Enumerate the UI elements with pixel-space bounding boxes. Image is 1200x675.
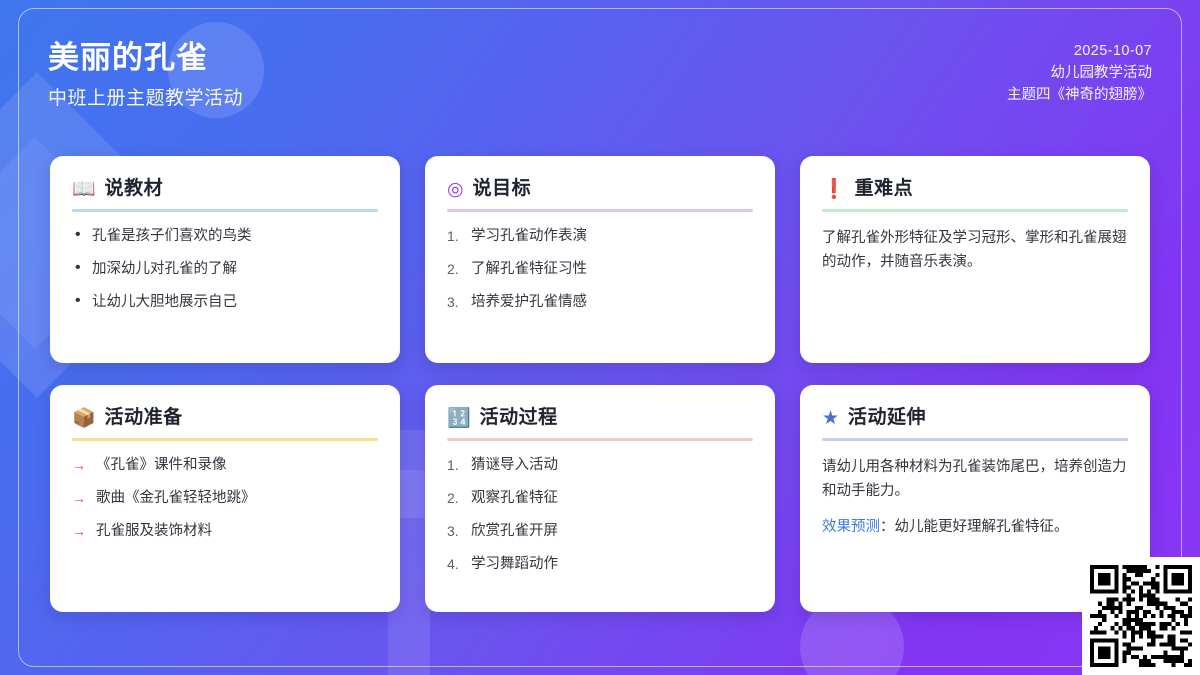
star-icon: ★ xyxy=(822,409,839,428)
list-item: 让幼儿大胆地展示自己 xyxy=(72,292,378,312)
card-grid: 📖说教材孔雀是孩子们喜欢的鸟类加深幼儿对孔雀的了解让幼儿大胆地展示自己◎说目标学… xyxy=(50,156,1150,612)
card-title: 活动延伸 xyxy=(848,405,926,431)
numbered-list-icon: 🔢 xyxy=(447,409,471,428)
list-item: 观察孔雀特征 xyxy=(447,488,753,508)
list-item: 欣赏孔雀开屏 xyxy=(447,521,753,541)
page-subtitle: 中班上册主题教学活动 xyxy=(48,86,243,112)
page-title: 美丽的孔雀 xyxy=(48,38,243,78)
card-rule xyxy=(72,209,378,212)
card-list: 孔雀是孩子们喜欢的鸟类加深幼儿对孔雀的了解让幼儿大胆地展示自己 xyxy=(72,226,378,312)
card-rule xyxy=(822,209,1128,212)
qr-code-image xyxy=(1090,565,1192,667)
card-rule xyxy=(72,438,378,441)
card-paragraph: 了解孔雀外形特征及学习冠形、掌形和孔雀展翅的动作，并随音乐表演。 xyxy=(822,226,1128,274)
card-header: 🔢活动过程 xyxy=(447,405,753,431)
card-objectives: ◎说目标学习孔雀动作表演了解孔雀特征习性培养爱护孔雀情感 xyxy=(425,156,775,363)
qr-code[interactable] xyxy=(1082,557,1200,675)
card-header: ❗重难点 xyxy=(822,176,1128,202)
list-item: 了解孔雀特征习性 xyxy=(447,259,753,279)
card-note: 效果预测：幼儿能更好理解孔雀特征。 xyxy=(822,515,1128,539)
header-date: 2025-10-07 xyxy=(1007,40,1152,62)
card-rule xyxy=(822,438,1128,441)
header-theme-unit: 主题四《神奇的翅膀》 xyxy=(1007,84,1152,106)
card-rule xyxy=(447,209,753,212)
card-header: ★活动延伸 xyxy=(822,405,1128,431)
card-list: 《孔雀》课件和录像歌曲《金孔雀轻轻地跳》孔雀服及装饰材料 xyxy=(72,455,378,541)
list-item: 歌曲《金孔雀轻轻地跳》 xyxy=(72,488,378,508)
card-title: 重难点 xyxy=(855,176,914,202)
list-item: 加深幼儿对孔雀的了解 xyxy=(72,259,378,279)
card-teaching-material: 📖说教材孔雀是孩子们喜欢的鸟类加深幼儿对孔雀的了解让幼儿大胆地展示自己 xyxy=(50,156,400,363)
list-item: 培养爱护孔雀情感 xyxy=(447,292,753,312)
package-box-icon: 📦 xyxy=(72,409,96,428)
list-item: 学习舞蹈动作 xyxy=(447,554,753,574)
list-item: 《孔雀》课件和录像 xyxy=(72,455,378,475)
card-process: 🔢活动过程猜谜导入活动观察孔雀特征欣赏孔雀开屏学习舞蹈动作 xyxy=(425,385,775,612)
list-item: 猜谜导入活动 xyxy=(447,455,753,475)
card-title: 说教材 xyxy=(105,176,164,202)
header-meta: 2025-10-07 幼儿园教学活动 主题四《神奇的翅膀》 xyxy=(1007,40,1152,106)
list-item: 孔雀是孩子们喜欢的鸟类 xyxy=(72,226,378,246)
exclamation-circle-icon: ❗ xyxy=(822,180,846,199)
card-note-text: ：幼儿能更好理解孔雀特征。 xyxy=(880,519,1069,535)
card-header: ◎说目标 xyxy=(447,176,753,202)
card-header: 📦活动准备 xyxy=(72,405,378,431)
card-rule xyxy=(447,438,753,441)
slide: 美丽的孔雀 中班上册主题教学活动 2025-10-07 幼儿园教学活动 主题四《… xyxy=(0,0,1200,675)
card-note-label: 效果预测 xyxy=(822,519,880,535)
header-category: 幼儿园教学活动 xyxy=(1007,62,1152,84)
card-title: 说目标 xyxy=(473,176,532,202)
open-book-icon: 📖 xyxy=(72,180,96,199)
card-list: 学习孔雀动作表演了解孔雀特征习性培养爱护孔雀情感 xyxy=(447,226,753,312)
card-preparation: 📦活动准备《孔雀》课件和录像歌曲《金孔雀轻轻地跳》孔雀服及装饰材料 xyxy=(50,385,400,612)
target-icon: ◎ xyxy=(447,180,464,199)
card-paragraph: 请幼儿用各种材料为孔雀装饰尾巴，培养创造力和动手能力。 xyxy=(822,455,1128,503)
header-left: 美丽的孔雀 中班上册主题教学活动 xyxy=(48,38,243,112)
card-header: 📖说教材 xyxy=(72,176,378,202)
slide-header: 美丽的孔雀 中班上册主题教学活动 2025-10-07 幼儿园教学活动 主题四《… xyxy=(48,38,1152,138)
card-key-difficulties: ❗重难点了解孔雀外形特征及学习冠形、掌形和孔雀展翅的动作，并随音乐表演。 xyxy=(800,156,1150,363)
card-title: 活动过程 xyxy=(480,405,558,431)
card-title: 活动准备 xyxy=(105,405,183,431)
list-item: 学习孔雀动作表演 xyxy=(447,226,753,246)
list-item: 孔雀服及装饰材料 xyxy=(72,521,378,541)
card-list: 猜谜导入活动观察孔雀特征欣赏孔雀开屏学习舞蹈动作 xyxy=(447,455,753,574)
